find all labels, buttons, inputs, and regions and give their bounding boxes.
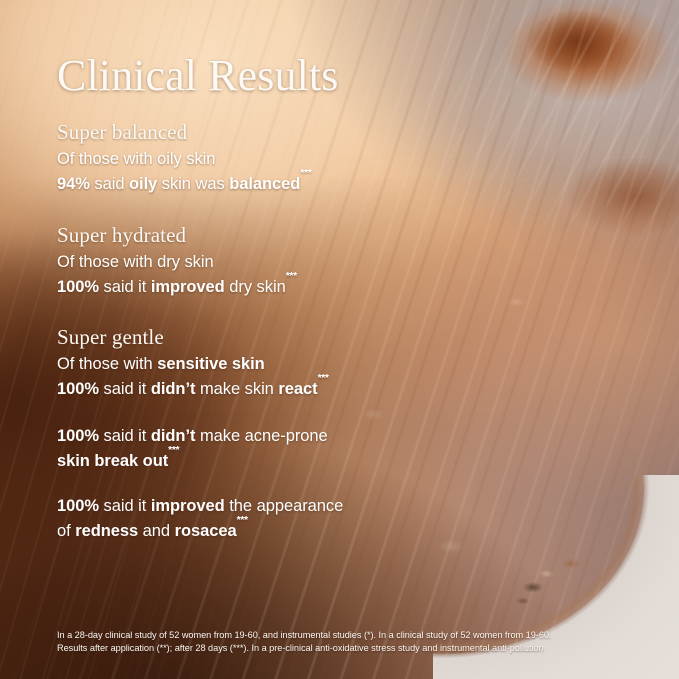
result-block-acne: 100% said it didn’t make acne-prone skin… xyxy=(57,424,328,473)
footnote-marker: *** xyxy=(168,444,179,456)
page-title: Clinical Results xyxy=(57,52,338,100)
result-line: skin break out*** xyxy=(57,449,328,474)
result-line: 100% said it didn’t make acne-prone xyxy=(57,424,328,449)
result-line: 100% said it didn’t make skin react*** xyxy=(57,377,329,402)
result-line: Of those with sensitive skin xyxy=(57,352,329,377)
footnote-marker: *** xyxy=(286,270,297,282)
footnote-disclaimer: In a 28-day clinical study of 52 women f… xyxy=(57,629,643,655)
result-block-balanced: Super balanced Of those with oily skin 9… xyxy=(57,119,311,196)
footnote-marker: *** xyxy=(300,167,311,179)
result-line: 100% said it improved the appearance xyxy=(57,494,343,519)
result-block-gentle: Super gentle Of those with sensitive ski… xyxy=(57,324,329,401)
result-subheading: Super balanced xyxy=(57,119,311,145)
clinical-results-panel: Clinical Results Super balanced Of those… xyxy=(0,0,679,679)
footnote-line-1: In a 28-day clinical study of 52 women f… xyxy=(57,629,643,642)
footnote-marker: *** xyxy=(237,514,248,526)
footnote-marker: *** xyxy=(318,372,329,384)
result-line: 94% said oily skin was balanced*** xyxy=(57,172,311,197)
footnote-line-2: Results after application (**); after 28… xyxy=(57,642,643,655)
result-line: of redness and rosacea*** xyxy=(57,519,343,544)
result-line: Of those with oily skin xyxy=(57,147,311,172)
result-block-hydrated: Super hydrated Of those with dry skin 10… xyxy=(57,222,297,299)
result-subheading: Super hydrated xyxy=(57,222,297,248)
result-line: 100% said it improved dry skin*** xyxy=(57,275,297,300)
content-column: Clinical Results Super balanced Of those… xyxy=(57,0,657,679)
result-block-redness: 100% said it improved the appearance of … xyxy=(57,494,343,543)
result-line: Of those with dry skin xyxy=(57,250,297,275)
result-subheading: Super gentle xyxy=(57,324,329,350)
